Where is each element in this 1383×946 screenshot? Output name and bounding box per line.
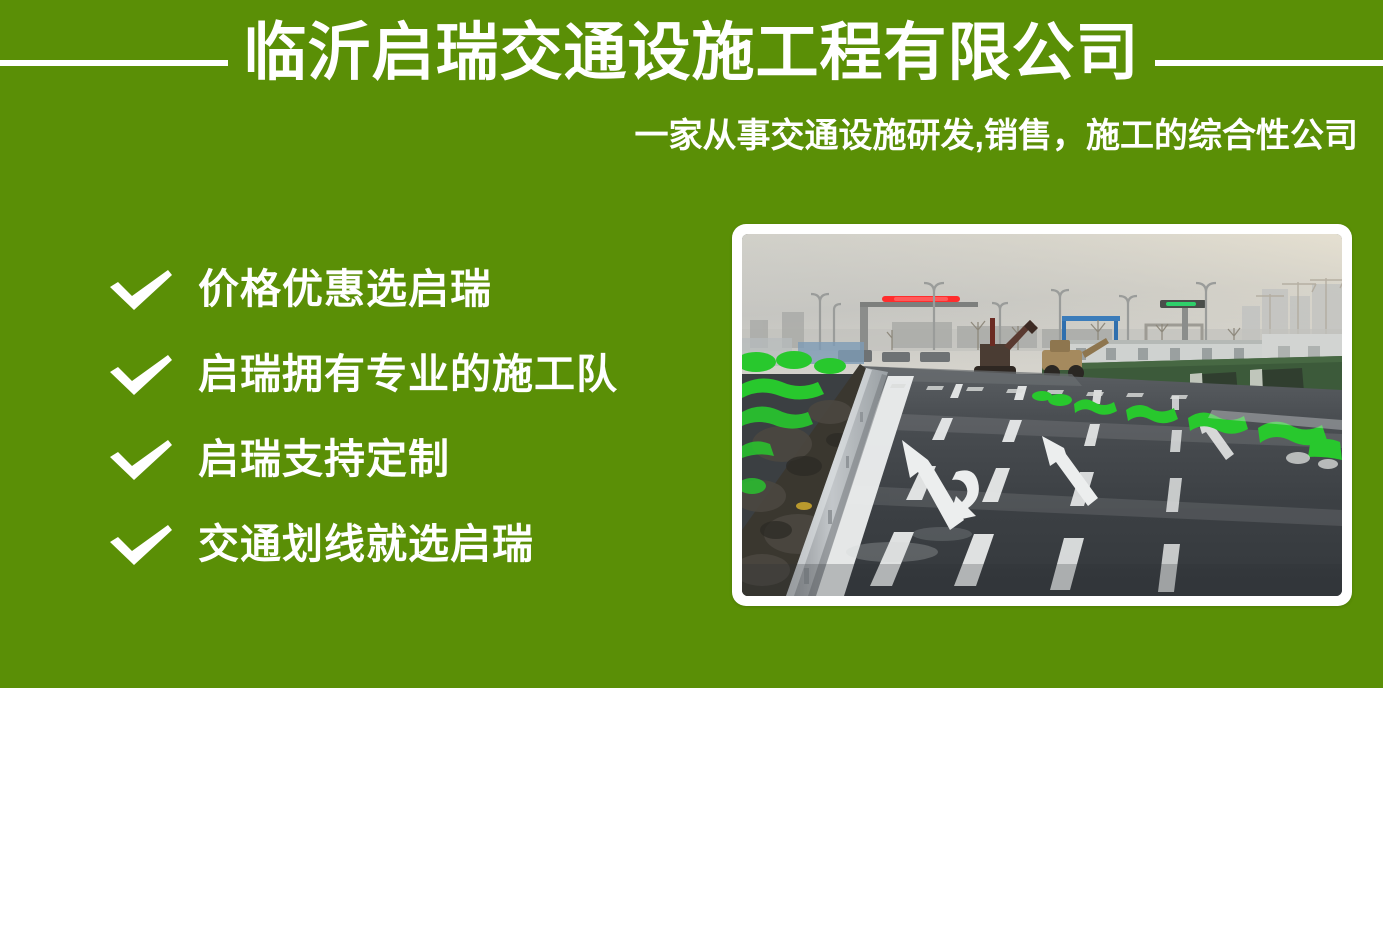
check-icon <box>108 435 174 483</box>
list-item-label: 价格优惠选启瑞 <box>198 265 492 313</box>
road-marking-photo <box>742 234 1342 596</box>
list-item-label: 启瑞支持定制 <box>198 435 450 483</box>
list-item-label: 交通划线就选启瑞 <box>198 520 534 568</box>
list-item: 交通划线就选启瑞 <box>108 501 708 586</box>
list-item: 价格优惠选启瑞 <box>108 246 708 331</box>
page-title: 临沂启瑞交通设施工程有限公司 <box>0 14 1383 92</box>
feature-list: 价格优惠选启瑞 启瑞拥有专业的施工队 启瑞支持定制 交通划线就选启瑞 <box>108 246 708 586</box>
check-icon <box>108 520 174 568</box>
list-item-label: 启瑞拥有专业的施工队 <box>198 350 618 398</box>
promo-banner: 临沂启瑞交通设施工程有限公司 一家从事交通设施研发,销售，施工的综合性公司 价格… <box>0 0 1383 688</box>
photo-card <box>732 224 1352 606</box>
photo-frame <box>742 234 1342 596</box>
title-row: 临沂启瑞交通设施工程有限公司 <box>0 14 1383 92</box>
list-item: 启瑞支持定制 <box>108 416 708 501</box>
check-icon <box>108 350 174 398</box>
banner-subtitle: 一家从事交通设施研发,销售，施工的综合性公司 <box>0 112 1358 160</box>
page-blank-area <box>0 688 1383 946</box>
list-item: 启瑞拥有专业的施工队 <box>108 331 708 416</box>
check-icon <box>108 265 174 313</box>
